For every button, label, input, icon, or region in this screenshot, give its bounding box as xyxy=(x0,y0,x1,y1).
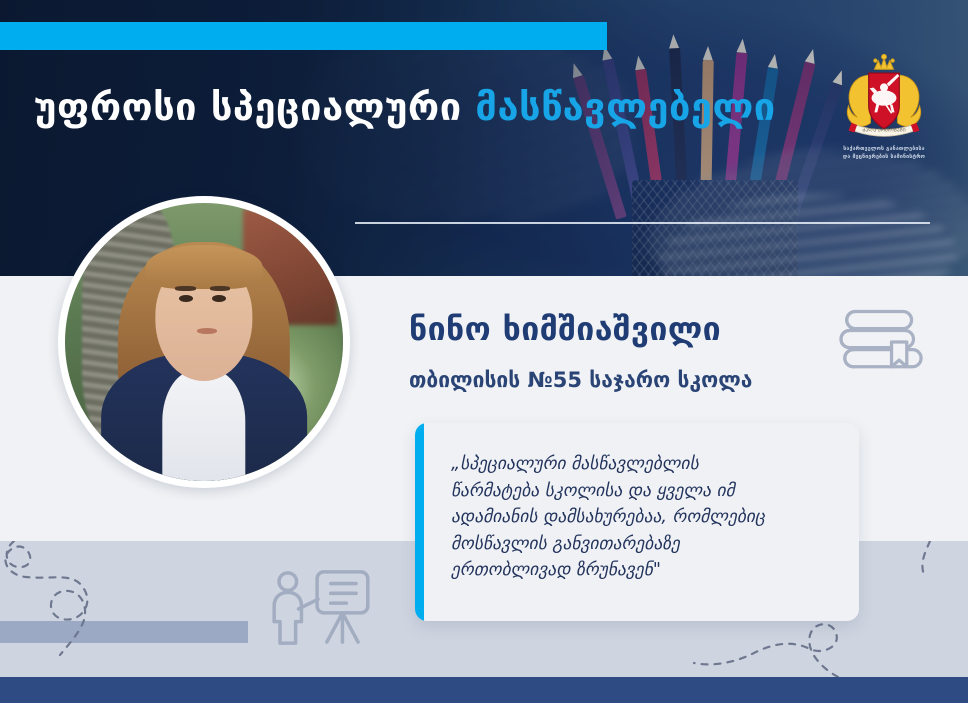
teacher-presentation-icon xyxy=(266,566,374,646)
quote-card: „სპეციალური მასწავლებლის წარმატება სკოლი… xyxy=(415,423,859,621)
hero-divider-line xyxy=(355,222,930,224)
quote-accent-bar xyxy=(415,423,424,621)
teacher-photo xyxy=(65,203,343,481)
page-title-accent: მასწავლებელი xyxy=(475,85,775,129)
poster-canvas: უფროსი სპეციალური მასწავლებელი xyxy=(0,0,968,703)
footer-bar xyxy=(0,677,968,703)
georgia-coat-of-arms-icon: ᲫᲐᲚᲐ ᲔᲠᲗᲝᲑᲐᲨᲘ xyxy=(826,52,942,144)
ministry-name-caption: საქართველოს განათლებისა და მეცნიერების ს… xyxy=(826,146,942,162)
avatar xyxy=(58,196,350,488)
page-title-primary: უფროსი სპეციალური xyxy=(34,85,475,129)
page-title: უფროსი სპეციალური მასწავლებელი xyxy=(34,88,776,126)
cyan-accent-bar xyxy=(0,22,607,50)
quote-text: „სპეციალური მასწავლებლის წარმატება სკოლი… xyxy=(451,451,841,584)
ministry-emblem: ᲫᲐᲚᲐ ᲔᲠᲗᲝᲑᲐᲨᲘ საქართველოს განათლებისა და… xyxy=(826,52,942,162)
books-stack-icon xyxy=(834,300,930,382)
teacher-name: ნინო ხიმშიაშვილი xyxy=(409,310,721,348)
svg-text:ᲫᲐᲚᲐ ᲔᲠᲗᲝᲑᲐᲨᲘ: ᲫᲐᲚᲐ ᲔᲠᲗᲝᲑᲐᲨᲘ xyxy=(862,128,905,134)
teacher-school: თბილისის №55 საჯარო სკოლა xyxy=(409,368,752,392)
